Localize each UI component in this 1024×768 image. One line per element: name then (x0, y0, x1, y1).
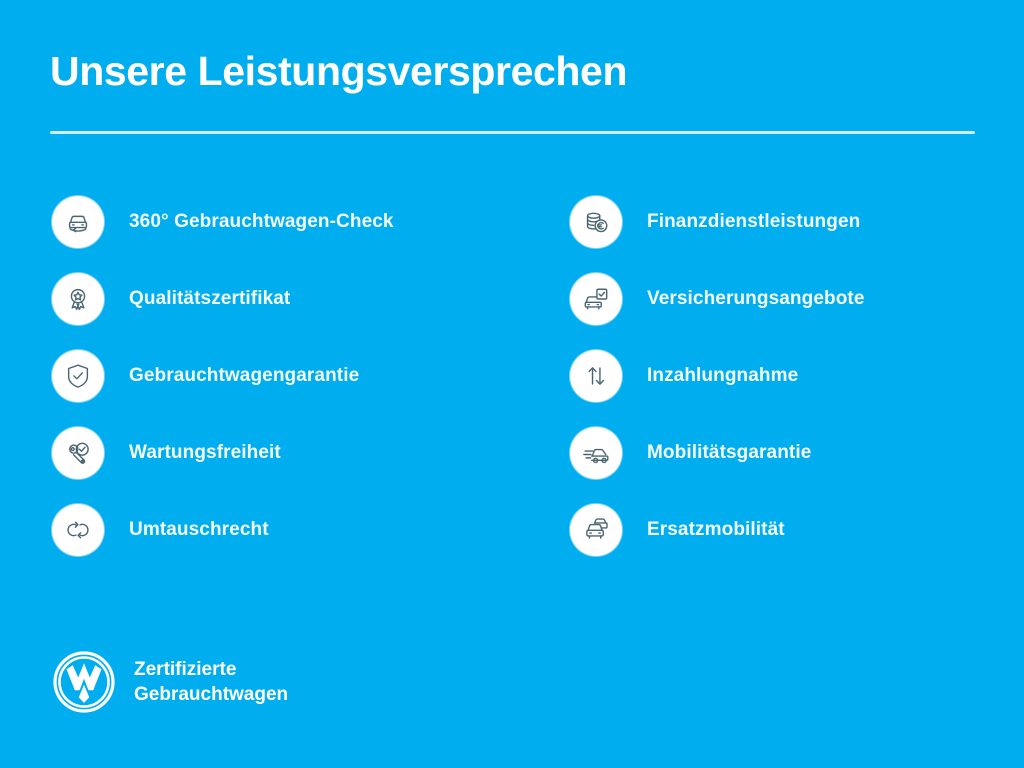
promise-label: Finanzdienstleistungen (647, 211, 860, 233)
brand-line-2: Gebrauchtwagen (134, 682, 288, 707)
promise-label: Gebrauchtwagengarantie (129, 365, 359, 387)
brand-footer: Zertifizierte Gebrauchtwagen (52, 650, 288, 714)
car-document-check-icon (570, 273, 622, 325)
promise-item-replacement-mobility[interactable]: Ersatzmobilität (570, 504, 1000, 556)
promise-item-exchange-right[interactable]: Umtauschrecht (52, 504, 522, 556)
promise-item-maintenance-free[interactable]: Wartungsfreiheit (52, 427, 522, 479)
promise-item-quality-certificate[interactable]: Qualitätszertifikat (52, 273, 522, 325)
promise-item-warranty[interactable]: Gebrauchtwagengarantie (52, 350, 522, 402)
exchange-arrows-icon (52, 504, 104, 556)
promise-item-360-check[interactable]: 360° Gebrauchtwagen-Check (52, 196, 522, 248)
brand-line-1: Zertifizierte (134, 657, 288, 682)
promise-item-trade-in[interactable]: Inzahlungnahme (570, 350, 1000, 402)
promises-grid: 360° Gebrauchtwagen-Check Qualitätszerti… (0, 196, 1024, 556)
promises-right-column: Finanzdienstleistungen Versicheru (570, 196, 1000, 556)
promise-label: 360° Gebrauchtwagen-Check (129, 211, 394, 233)
promise-label: Qualitätszertifikat (129, 288, 290, 310)
car-speed-icon (570, 427, 622, 479)
arrows-up-down-icon (570, 350, 622, 402)
promise-item-mobility-guarantee[interactable]: Mobilitätsgarantie (570, 427, 1000, 479)
promise-label: Versicherungsangebote (647, 288, 865, 310)
brand-text: Zertifizierte Gebrauchtwagen (134, 657, 288, 708)
title-divider (50, 131, 975, 134)
shield-check-icon (52, 350, 104, 402)
promise-label: Inzahlungnahme (647, 365, 798, 387)
promises-left-column: 360° Gebrauchtwagen-Check Qualitätszerti… (52, 196, 522, 556)
page-title: Unsere Leistungsversprechen (50, 48, 980, 95)
coins-euro-icon (570, 196, 622, 248)
promise-label: Umtauschrecht (129, 519, 269, 541)
promise-label: Mobilitätsgarantie (647, 442, 811, 464)
car-360-check-icon (52, 196, 104, 248)
award-rosette-icon (52, 273, 104, 325)
volkswagen-logo-icon (52, 650, 116, 714)
promise-item-insurance-offers[interactable]: Versicherungsangebote (570, 273, 1000, 325)
promise-label: Ersatzmobilität (647, 519, 785, 541)
header: Unsere Leistungsversprechen (50, 48, 980, 95)
promise-label: Wartungsfreiheit (129, 442, 281, 464)
slide-canvas: Unsere Leistungsversprechen 360° Gebrauc… (0, 0, 1024, 768)
two-cars-icon (570, 504, 622, 556)
promise-item-financial-services[interactable]: Finanzdienstleistungen (570, 196, 1000, 248)
wrench-check-icon (52, 427, 104, 479)
